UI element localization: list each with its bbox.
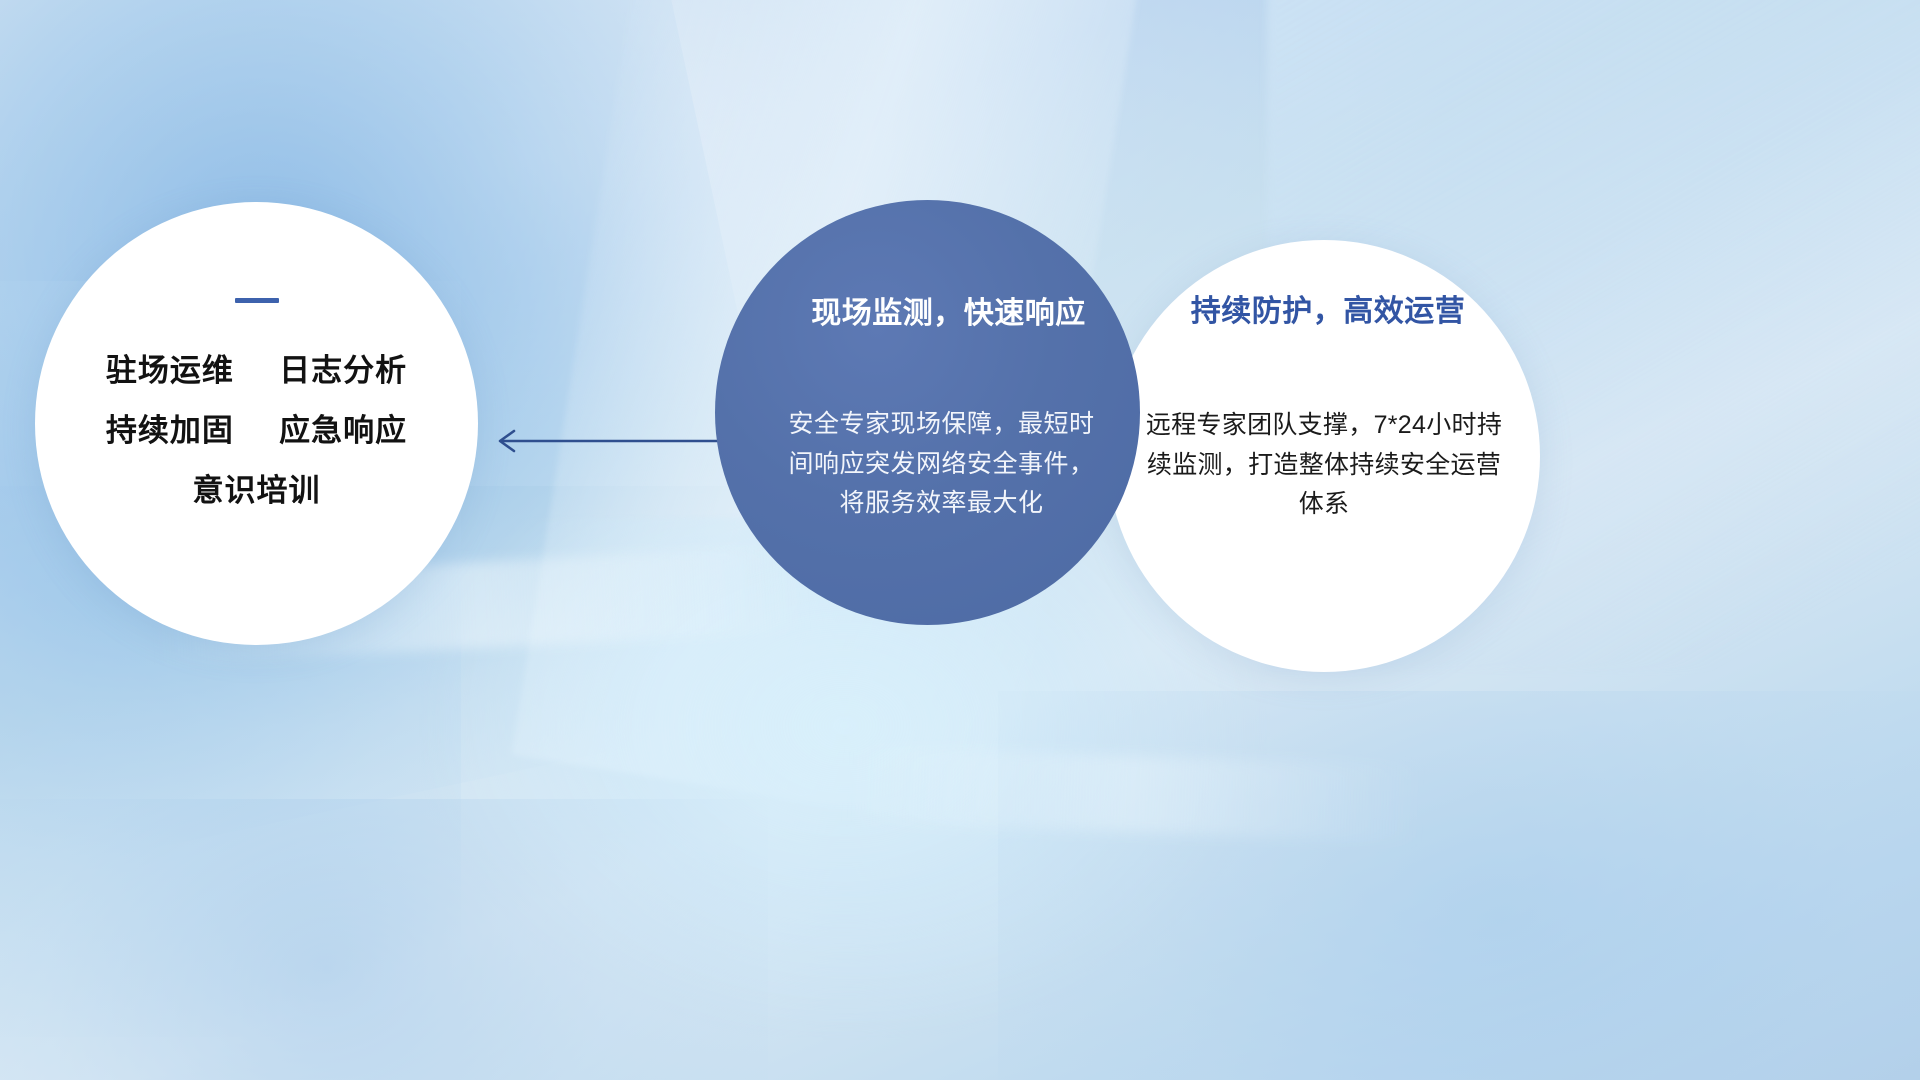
slide-canvas: 驻场运维 日志分析 持续加固 应急响应 意识培训 现场监测，快速响应 安全专家现…: [0, 0, 1920, 1080]
right-card-title: 持续防护，高效运营: [1152, 286, 1504, 330]
arrow-left-icon: [487, 420, 727, 462]
capability-card-middle[interactable]: 现场监测，快速响应 安全专家现场保障，最短时间响应突发网络安全事件，将服务效率最…: [715, 200, 1140, 625]
left-card-tag-yishipeixun: 意识培训: [193, 473, 321, 508]
left-card-tag-zhuchangyunwei: 驻场运维: [106, 353, 234, 388]
connector-arrow: [487, 420, 727, 462]
background-bottom-right-blob: [998, 691, 1920, 1080]
left-card-tag-rizhifenxi: 日志分析: [279, 353, 407, 388]
right-card-content: 持续防护，高效运营 远程专家团队支撑，7*24小时持续监测，打造整体持续安全运营…: [1108, 240, 1540, 672]
background-bottom-left-blob: [0, 799, 768, 1080]
left-card-tag-yingjixiangying: 应急响应: [279, 413, 407, 448]
middle-card-content: 现场监测，快速响应 安全专家现场保障，最短时间响应突发网络安全事件，将服务效率最…: [715, 200, 1140, 625]
left-card-content: 驻场运维 日志分析 持续加固 应急响应 意识培训: [35, 298, 478, 506]
right-card-body: 远程专家团队支撑，7*24小时持续监测，打造整体持续安全运营体系: [1144, 406, 1504, 525]
capability-card-left[interactable]: 驻场运维 日志分析 持续加固 应急响应 意识培训: [35, 202, 478, 645]
left-card-divider: [235, 298, 279, 303]
left-card-tag-chixujiagu: 持续加固: [106, 413, 234, 448]
left-card-line-2: 持续加固 应急响应: [69, 415, 444, 446]
capability-card-right[interactable]: 持续防护，高效运营 远程专家团队支撑，7*24小时持续监测，打造整体持续安全运营…: [1108, 240, 1540, 672]
left-card-line-3: 意识培训: [69, 475, 444, 506]
middle-card-body: 安全专家现场保障，最短时间响应突发网络安全事件，将服务效率最大化: [787, 405, 1096, 524]
middle-card-title: 现场监测，快速响应: [801, 288, 1096, 332]
left-card-line-1: 驻场运维 日志分析: [69, 355, 444, 386]
